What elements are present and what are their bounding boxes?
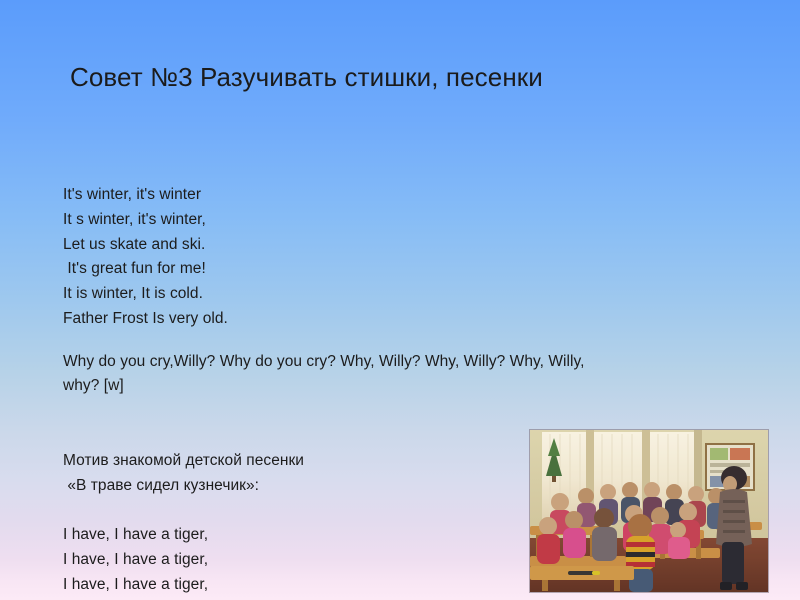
poem-winter-line: It's winter, it's winter	[63, 183, 493, 208]
poem-willy-line: Why do you cry,Willy? Why do you cry? Wh…	[63, 350, 753, 374]
poem-tiger-block: I have, I have a tiger, I have, I have a…	[63, 523, 503, 600]
poem-tiger-line: I have, I have a tiger,	[63, 523, 503, 548]
page-title: Совет №3 Разучивать стишки, песенки	[70, 60, 750, 94]
poem-willy-block: Why do you cry,Willy? Why do you cry? Wh…	[63, 350, 753, 398]
poem-tiger-line: I have, I have a tiger,	[63, 548, 503, 573]
poem-winter-line: Father Frost Is very old.	[63, 307, 493, 332]
classroom-photo-image	[530, 430, 768, 592]
song-intro-line: «В траве сидел кузнечик»:	[63, 474, 503, 499]
classroom-photo	[530, 430, 768, 592]
poem-tiger-line: I have, I have a tiger,	[63, 573, 503, 598]
poem-winter-line: It s winter, it's winter,	[63, 208, 493, 233]
song-intro-block: Мотив знакомой детской песенки «В траве …	[63, 449, 503, 499]
poem-winter-line: Let us skate and ski.	[63, 233, 493, 258]
slide: Совет №3 Разучивать стишки, песенки It's…	[0, 0, 800, 600]
song-intro-line: Мотив знакомой детской песенки	[63, 449, 503, 474]
poem-winter-block: It's winter, it's winter It s winter, it…	[63, 183, 493, 332]
poem-willy-line: why? [w]	[63, 374, 753, 398]
poem-winter-line: It's great fun for me!	[63, 257, 493, 282]
poem-winter-line: It is winter, It is cold.	[63, 282, 493, 307]
